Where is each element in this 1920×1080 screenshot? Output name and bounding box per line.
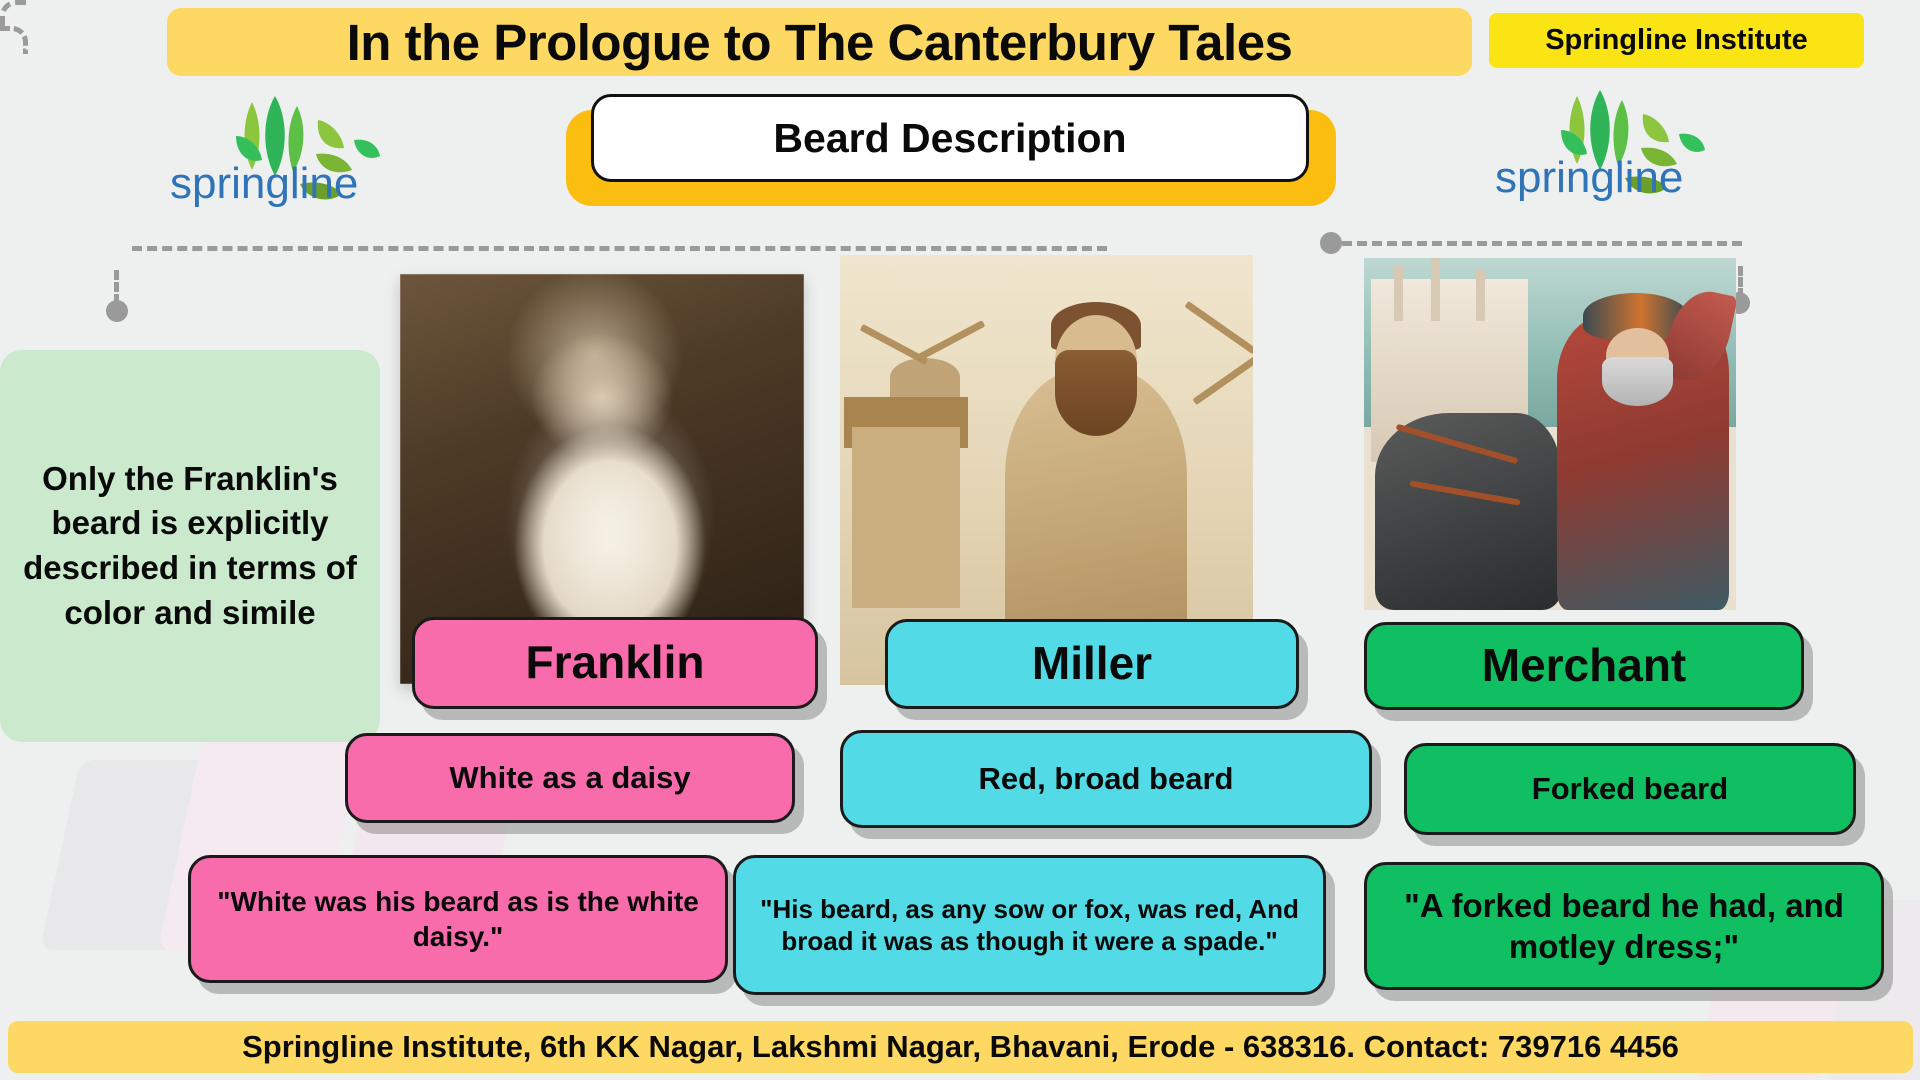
connector-line-right: [1342, 241, 1742, 246]
connector-corner-right: [0, 26, 28, 54]
franklin-trait-pill[interactable]: White as a daisy: [345, 733, 795, 823]
springline-wordmark: springline: [1495, 153, 1683, 202]
springline-logo-left: springline: [140, 92, 420, 212]
connector-corner-left: [0, 0, 28, 26]
miller-name-text: Miller: [1032, 635, 1152, 693]
franklin-quote-pill[interactable]: "White was his beard as is the white dai…: [188, 855, 728, 983]
springline-logo-right: springline: [1465, 86, 1745, 206]
page-title: In the Prologue to The Canterbury Tales: [167, 8, 1472, 76]
miller-trait-pill[interactable]: Red, broad beard: [840, 730, 1372, 828]
page-title-text: In the Prologue to The Canterbury Tales: [347, 13, 1293, 72]
merchant-portrait-image: [1364, 258, 1736, 610]
brand-badge: Springline Institute: [1489, 13, 1864, 68]
miller-quote-text: "His beard, as any sow or fox, was red, …: [750, 893, 1309, 958]
subtitle-card: Beard Description: [591, 94, 1309, 182]
merchant-name-pill[interactable]: Merchant: [1364, 622, 1804, 710]
springline-wordmark: springline: [170, 159, 358, 208]
franklin-quote-text: "White was his beard as is the white dai…: [205, 884, 711, 954]
connector-line-left: [132, 246, 1107, 251]
connector-dot-left: [106, 300, 128, 322]
miller-name-pill[interactable]: Miller: [885, 619, 1299, 709]
connector-stem-left: [114, 270, 119, 304]
merchant-portrait-art: [1364, 258, 1736, 610]
miller-quote-pill[interactable]: "His beard, as any sow or fox, was red, …: [733, 855, 1326, 995]
footer-bar: Springline Institute, 6th KK Nagar, Laks…: [8, 1021, 1913, 1073]
brand-badge-text: Springline Institute: [1545, 24, 1808, 57]
franklin-name-text: Franklin: [526, 634, 705, 692]
infographic-canvas: In the Prologue to The Canterbury Tales …: [0, 0, 1920, 1080]
insight-note-text: Only the Franklin's beard is explicitly …: [18, 457, 362, 635]
merchant-name-text: Merchant: [1482, 637, 1686, 695]
merchant-quote-text: "A forked beard he had, and motley dress…: [1381, 885, 1867, 968]
connector-dot-center-right: [1320, 232, 1342, 254]
franklin-name-pill[interactable]: Franklin: [412, 617, 818, 709]
franklin-trait-text: White as a daisy: [449, 759, 690, 798]
miller-trait-text: Red, broad beard: [979, 760, 1234, 799]
subtitle-text: Beard Description: [773, 115, 1126, 162]
insight-note: Only the Franklin's beard is explicitly …: [0, 350, 380, 742]
merchant-trait-text: Forked beard: [1532, 770, 1728, 809]
merchant-quote-pill[interactable]: "A forked beard he had, and motley dress…: [1364, 862, 1884, 990]
footer-text: Springline Institute, 6th KK Nagar, Laks…: [242, 1029, 1679, 1065]
merchant-trait-pill[interactable]: Forked beard: [1404, 743, 1856, 835]
